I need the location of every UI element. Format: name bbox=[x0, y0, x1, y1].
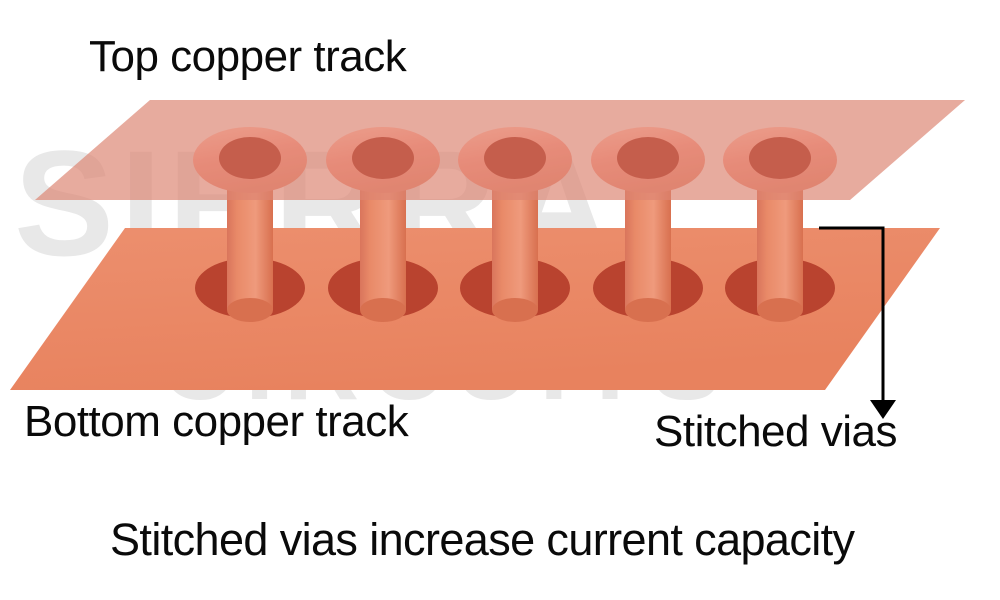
label-bottom-copper-track: Bottom copper track bbox=[24, 396, 408, 448]
diagram-canvas: SIERRA CIRCUITS bbox=[0, 0, 1000, 600]
label-top-copper-track: Top copper track bbox=[89, 31, 406, 83]
label-stitched-vias: Stitched vias bbox=[654, 406, 897, 458]
pcb-stitched-vias-illustration bbox=[0, 0, 1000, 600]
top-plane-glass-overlay bbox=[35, 100, 965, 200]
figure-caption: Stitched vias increase current capacity bbox=[110, 513, 854, 567]
